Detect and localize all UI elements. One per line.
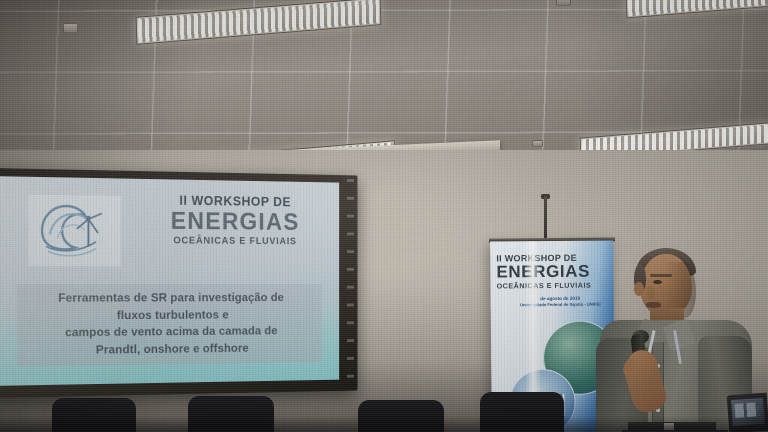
smoke-detector-icon	[63, 23, 78, 33]
speaker-nose	[646, 286, 655, 299]
conference-presentation-photo: II WORKSHOP DE ENERGIAS OCEÂNICAS E FLUV…	[0, 0, 768, 432]
speaker-eye	[653, 280, 662, 284]
banner-header-line3: OCEÂNICAS E FLUVIAIS	[497, 280, 604, 290]
smoke-detector-icon	[556, 0, 571, 6]
smoke-detector-icon	[532, 140, 543, 147]
projection-screen: II WORKSHOP DE ENERGIAS OCEÂNICAS E FLUV…	[0, 168, 357, 398]
banner-header-line2: ENERGIAS	[496, 263, 603, 282]
banner-header: II WORKSHOP DE ENERGIAS OCEÂNICAS E FLUV…	[496, 253, 603, 291]
speaker-eyebrow	[650, 274, 672, 277]
banner-hanger-pole	[544, 196, 547, 240]
speaker-ear	[634, 282, 644, 296]
projected-slide: II WORKSHOP DE ENERGIAS OCEÂNICAS E FLUV…	[0, 176, 339, 386]
screen-glare	[0, 176, 339, 386]
screen-grommet-strip	[347, 179, 354, 387]
foreground-shadow	[0, 416, 768, 432]
